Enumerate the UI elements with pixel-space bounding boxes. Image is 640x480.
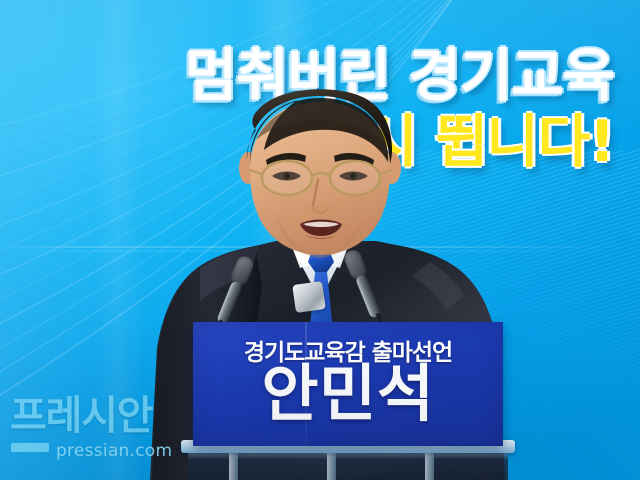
podium-sign-name: 안민석 xyxy=(193,363,503,425)
backdrop-seam xyxy=(0,246,640,248)
podium-sign-panel: 경기도교육감 출마선언 안민석 xyxy=(193,322,503,446)
backdrop-seam xyxy=(0,250,640,252)
photo-stage: 멈춰버린 경기교육 다시 뜁니다! xyxy=(0,0,640,480)
podium: 경기도교육감 출마선언 안민석 xyxy=(175,322,520,480)
